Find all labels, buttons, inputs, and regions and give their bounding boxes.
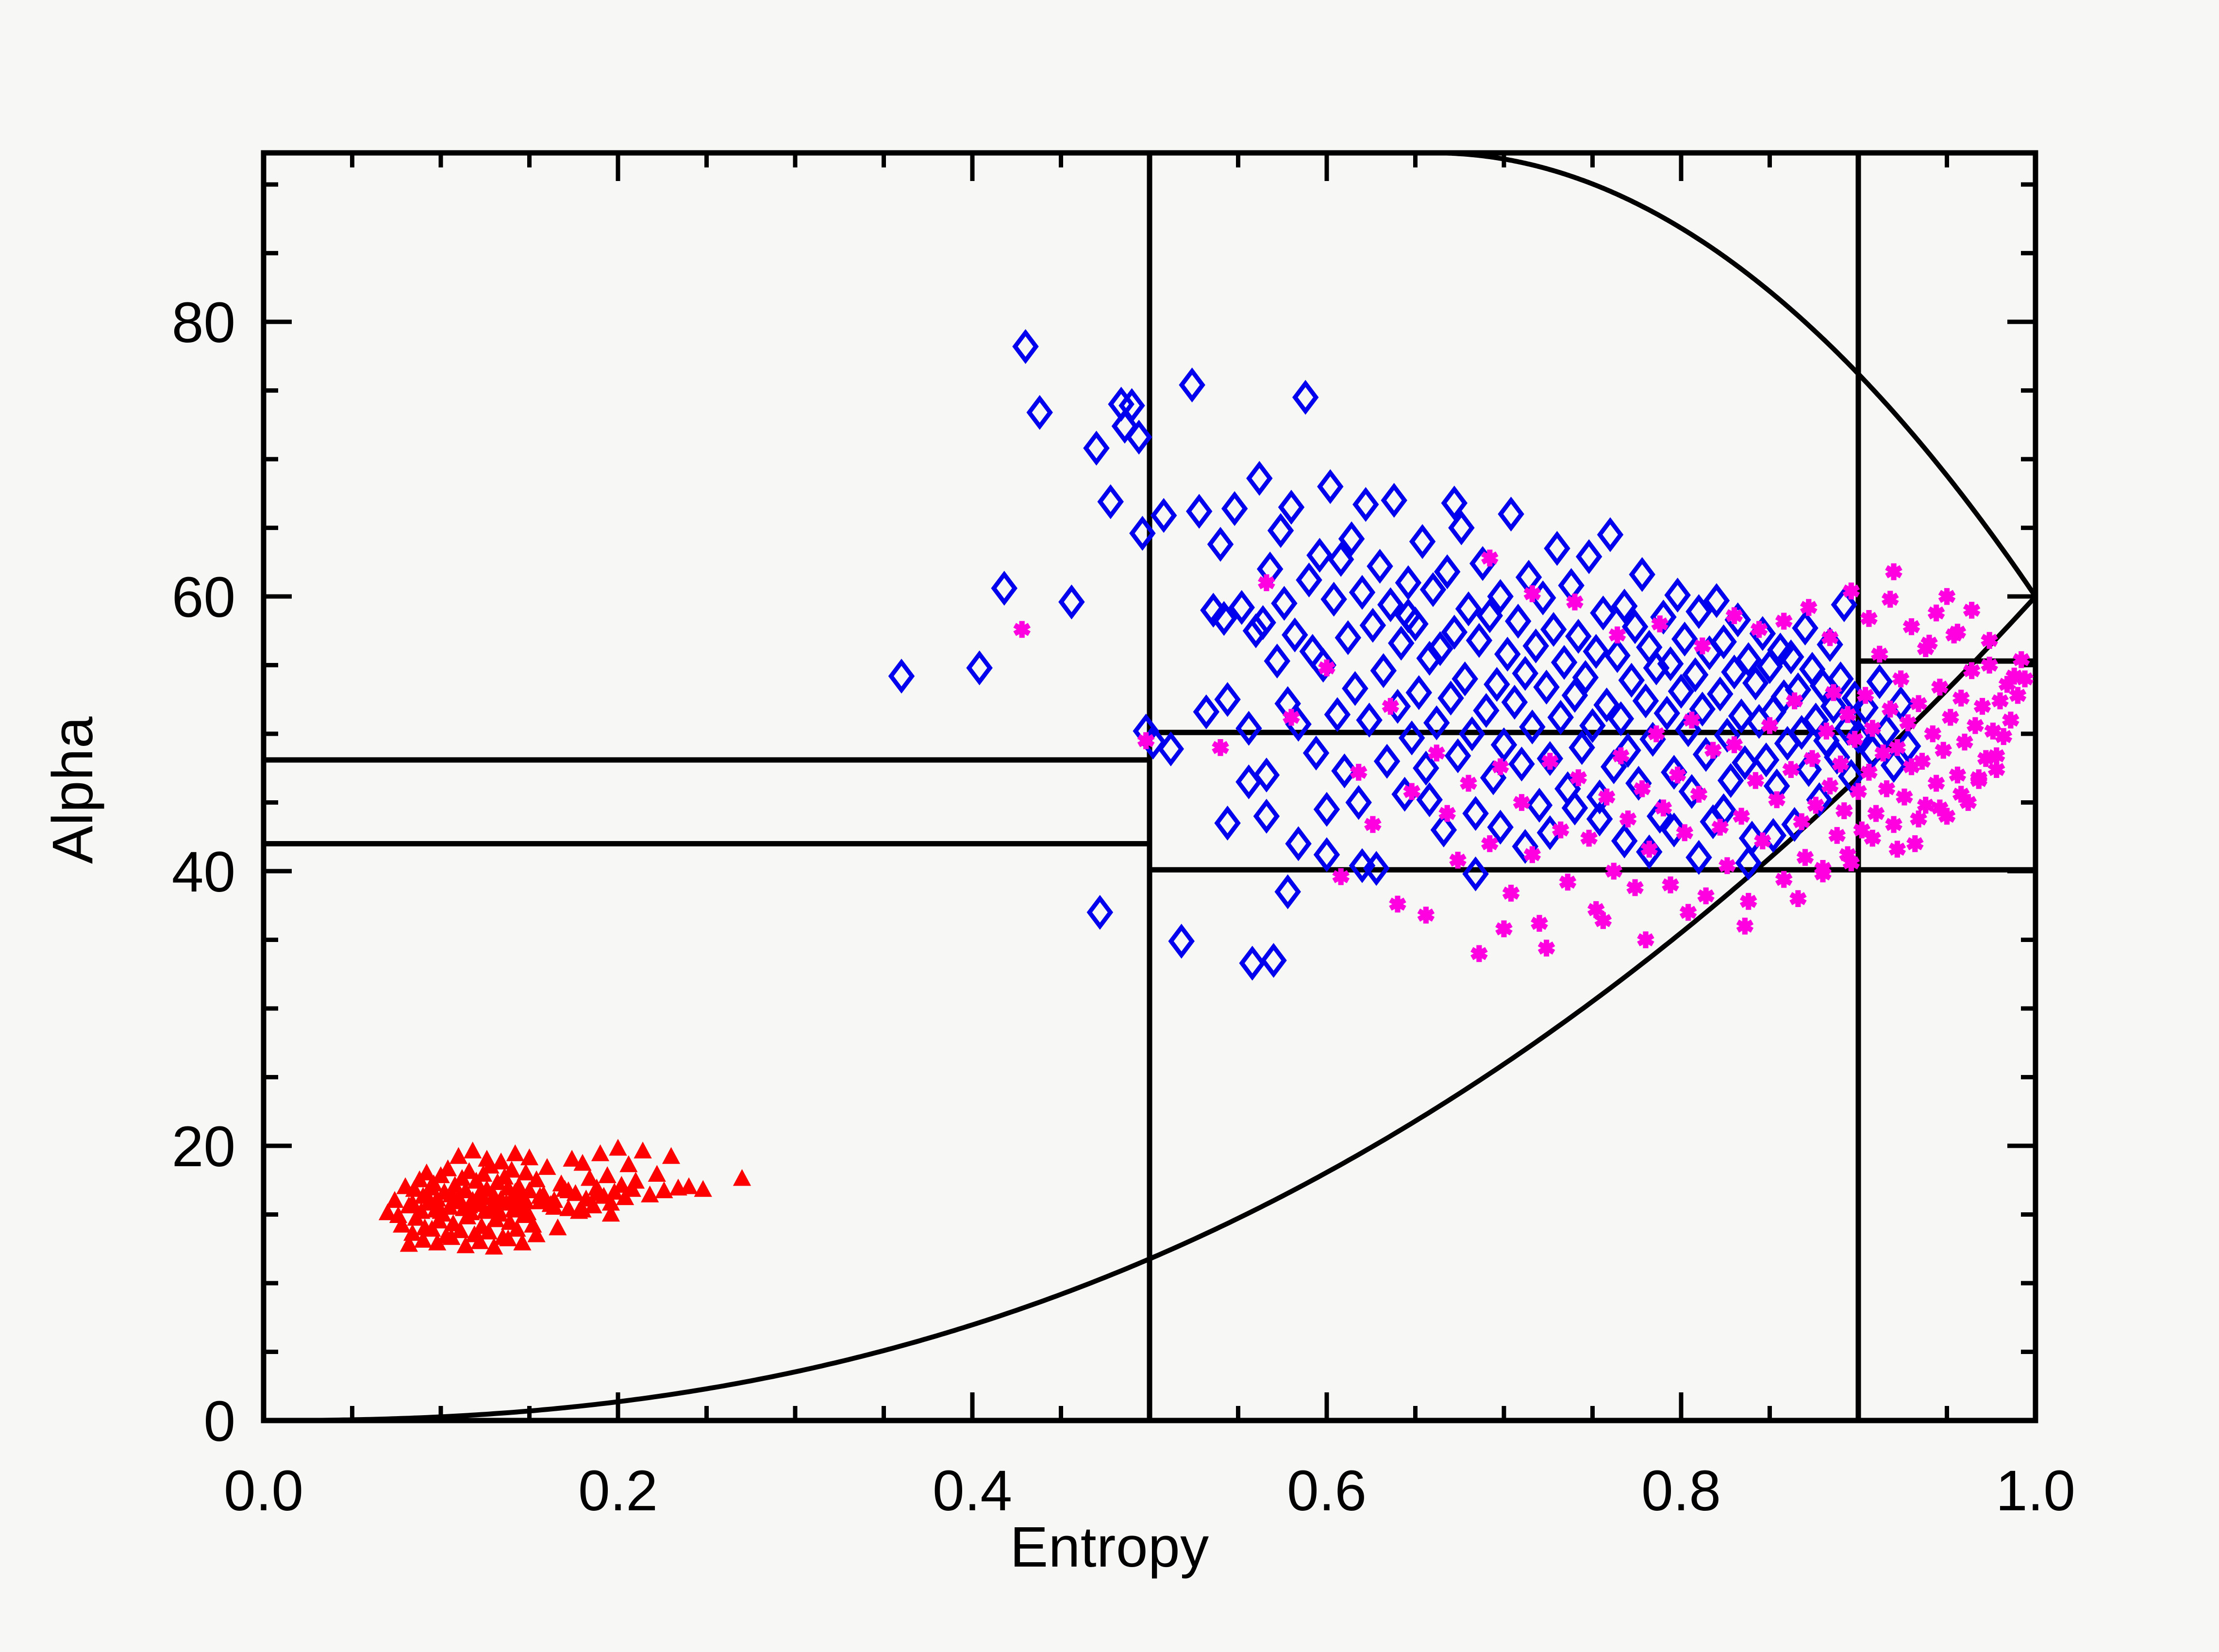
data-point-asterisk (1383, 698, 1398, 715)
data-point-diamond (1270, 517, 1291, 545)
data-point-asterisk (1015, 621, 1029, 638)
data-point-diamond (1267, 647, 1287, 675)
data-point-triangle (649, 1167, 665, 1181)
y-axis-title: Alpha (40, 159, 106, 1421)
data-point-diamond (1607, 642, 1628, 669)
data-point-asterisk (1965, 662, 1979, 679)
data-point-asterisk (1752, 621, 1767, 638)
data-point-asterisk (1582, 830, 1596, 847)
data-point-asterisk (1568, 594, 1582, 611)
data-point-diamond (1351, 578, 1372, 606)
data-point-asterisk (1571, 769, 1585, 786)
data-point-asterisk (1971, 772, 1986, 789)
data-point-asterisk (1720, 857, 1735, 874)
data-point-triangle (507, 1146, 523, 1160)
data-point-diamond (1242, 949, 1263, 977)
data-point-asterisk (1883, 701, 1898, 718)
data-point-diamond (1277, 878, 1298, 906)
data-point-asterisk (1834, 756, 1848, 773)
data-point-asterisk (1933, 800, 1947, 817)
data-point-diamond (1688, 843, 1709, 871)
data-point-triangle (521, 1150, 537, 1165)
data-point-asterisk (1472, 945, 1486, 962)
data-point-asterisk (1897, 789, 1912, 806)
data-point-asterisk (1808, 797, 1823, 814)
data-point-triangle (479, 1151, 495, 1166)
data-point-asterisk (1819, 723, 1834, 740)
data-point-asterisk (1957, 734, 1972, 751)
data-point-asterisk (1886, 816, 1901, 833)
data-point-diamond (1327, 701, 1348, 728)
data-point-asterisk (1844, 582, 1858, 599)
data-point-diamond (1316, 795, 1337, 823)
data-point-diamond (1508, 607, 1529, 635)
data-point-asterisk (1748, 772, 1763, 789)
data-point-diamond (1373, 657, 1394, 684)
data-point-asterisk (1851, 783, 1866, 800)
data-point-asterisk (1933, 679, 1947, 696)
data-point-diamond (1433, 816, 1454, 844)
y-axis-tick-labels: 020406080 (172, 291, 235, 1454)
data-point-asterisk (1993, 693, 2007, 710)
data-point-diamond (1600, 521, 1620, 548)
data-point-diamond (1299, 566, 1319, 594)
data-point-asterisk (1418, 907, 1433, 924)
y-tick-label: 20 (172, 1115, 235, 1179)
data-point-asterisk (1936, 742, 1951, 759)
data-point-diamond (1656, 699, 1677, 727)
data-point-triangle (493, 1154, 509, 1169)
data-point-asterisk (1925, 726, 1940, 743)
data-point-diamond (1256, 802, 1277, 830)
data-point-triangle (465, 1143, 481, 1157)
data-point-asterisk (1483, 550, 1497, 567)
data-point-asterisk (1798, 849, 1813, 866)
y-tick-label: 60 (172, 565, 235, 629)
data-point-diamond (1309, 542, 1330, 569)
data-point-asterisk (1539, 940, 1554, 957)
data-point-asterisk (1823, 629, 1837, 646)
data-point-diamond (1408, 679, 1429, 707)
data-point-diamond (1419, 786, 1440, 813)
data-point-asterisk (1787, 693, 1802, 710)
data-point-diamond (1635, 687, 1656, 715)
data-point-diamond (1561, 572, 1582, 599)
data-point-triangle (550, 1220, 566, 1235)
data-point-diamond (1274, 590, 1295, 617)
data-point-asterisk (1628, 879, 1642, 896)
data-point-asterisk (1968, 717, 1983, 734)
data-point-diamond (1568, 623, 1589, 650)
data-point-asterisk (1858, 687, 1873, 704)
data-point-asterisk (2018, 671, 2032, 688)
data-point-diamond (1238, 714, 1259, 742)
data-point-asterisk (1943, 709, 1958, 726)
data-point-diamond (1217, 809, 1238, 837)
data-point-asterisk (1837, 802, 1852, 819)
data-point-diamond (1224, 495, 1245, 522)
data-point-diamond (1468, 627, 1489, 654)
data-point-diamond (1323, 585, 1344, 613)
data-point-asterisk (1894, 671, 1908, 688)
entropy-alpha-scatter-figure: 0.00.20.40.60.81.0 020406080 Entropy Alp… (0, 0, 2219, 1652)
data-point-diamond (1210, 530, 1231, 558)
data-point-asterisk (2014, 651, 2029, 668)
data-point-asterisk (1823, 777, 1837, 794)
data-point-asterisk (1497, 921, 1511, 938)
data-point-asterisk (1681, 904, 1696, 921)
data-point-diamond (1674, 625, 1695, 653)
data-point-asterisk (1606, 863, 1621, 880)
data-point-asterisk (1600, 789, 1614, 806)
x-axis-tick-labels: 0.00.20.40.60.81.0 (224, 1459, 2075, 1523)
data-point-asterisk (1139, 732, 1153, 749)
plot-canvas: 0.00.20.40.60.81.0 020406080 (0, 0, 2219, 1652)
data-point-diamond (1511, 750, 1532, 778)
data-point-asterisk (1901, 714, 1915, 731)
data-point-asterisk (1213, 739, 1228, 756)
data-point-asterisk (1652, 615, 1667, 632)
data-point-diamond (1593, 599, 1614, 627)
data-point-diamond (1454, 665, 1475, 693)
data-point-asterisk (1515, 794, 1529, 811)
data-point-asterisk (1741, 893, 1756, 910)
data-point-diamond (1632, 561, 1652, 588)
data-point-diamond (891, 662, 912, 690)
data-point-diamond (1401, 724, 1422, 752)
data-point-asterisk (1596, 912, 1610, 929)
data-point-diamond (1710, 680, 1731, 708)
data-point-diamond (1412, 528, 1433, 555)
data-point-triangle (450, 1149, 466, 1163)
data-point-diamond (1501, 500, 1521, 528)
data-point-triangle (663, 1149, 679, 1163)
data-point-asterisk (1826, 684, 1841, 701)
data-point-diamond (1086, 434, 1107, 462)
series-class-b-blue-diamonds (891, 333, 1918, 977)
data-point-diamond (1196, 698, 1217, 726)
data-point-asterisk (1706, 742, 1720, 759)
data-point-asterisk (1755, 832, 1770, 849)
y-tick-label: 80 (172, 291, 235, 355)
data-point-diamond (1490, 813, 1511, 841)
data-point-triangle (642, 1187, 658, 1202)
data-point-asterisk (1862, 764, 1876, 781)
data-point-diamond (1398, 569, 1418, 596)
data-point-asterisk (1763, 717, 1777, 734)
data-point-asterisk (1996, 728, 2011, 745)
data-point-diamond (1621, 666, 1642, 694)
data-point-diamond (1249, 464, 1270, 492)
data-point-diamond (1281, 494, 1301, 521)
data-point-asterisk (1965, 602, 1979, 619)
data-point-asterisk (1919, 640, 1933, 657)
data-point-triangle (695, 1182, 711, 1196)
data-point-asterisk (1461, 775, 1476, 792)
data-point-diamond (1302, 638, 1323, 665)
data-point-diamond (994, 575, 1015, 602)
data-point-asterisk (1692, 786, 1706, 803)
data-point-asterisk (1865, 830, 1880, 847)
data-point-asterisk (1284, 709, 1299, 726)
data-point-diamond (969, 654, 990, 682)
data-point-diamond (1100, 488, 1121, 515)
data-point-asterisk (1954, 690, 1969, 707)
data-point-asterisk (1543, 753, 1557, 770)
data-point-asterisk (1560, 874, 1575, 891)
data-point-asterisk (1670, 767, 1685, 784)
data-point-asterisk (1699, 888, 1713, 905)
y-tick-label: 0 (203, 1389, 235, 1454)
x-tick-label: 0.8 (1641, 1459, 1721, 1523)
data-point-asterisk (1621, 810, 1635, 827)
data-point-asterisk (1911, 695, 1926, 712)
data-point-asterisk (1390, 896, 1405, 913)
data-point-asterisk (1727, 607, 1742, 624)
data-point-asterisk (1940, 588, 1954, 605)
data-point-diamond (1061, 588, 1082, 616)
boundary-upper-branch (1433, 153, 2035, 596)
data-point-asterisk (1532, 915, 1547, 932)
x-tick-label: 0.0 (224, 1459, 303, 1523)
data-point-asterisk (1334, 868, 1348, 885)
data-point-diamond (1320, 473, 1341, 500)
data-point-asterisk (1982, 657, 1997, 674)
data-point-asterisk (1784, 761, 1798, 778)
data-point-asterisk (1869, 805, 1884, 822)
data-point-asterisk (1904, 618, 1919, 635)
data-point-asterisk (1777, 613, 1791, 630)
data-point-diamond (1263, 946, 1284, 974)
data-point-diamond (1015, 333, 1036, 361)
data-point-diamond (1153, 502, 1174, 529)
data-point-diamond (1522, 713, 1543, 741)
data-point-diamond (1525, 632, 1546, 660)
data-point-asterisk (1794, 813, 1809, 830)
data-point-diamond (1504, 688, 1525, 716)
data-point-asterisk (1840, 846, 1855, 863)
data-point-triangle (387, 1192, 402, 1207)
x-tick-label: 0.6 (1287, 1459, 1367, 1523)
data-point-diamond (1295, 383, 1316, 411)
data-point-diamond (1486, 671, 1507, 698)
data-point-diamond (1458, 595, 1479, 623)
data-point-asterisk (1404, 783, 1419, 800)
data-point-triangle (610, 1140, 626, 1155)
data-point-diamond (1547, 535, 1568, 562)
data-point-diamond (1564, 794, 1585, 822)
data-point-asterisk (1883, 591, 1898, 608)
data-point-diamond (1579, 543, 1600, 570)
data-point-diamond (1355, 491, 1376, 518)
data-point-asterisk (1950, 767, 1965, 784)
data-point-triangle (419, 1165, 434, 1180)
data-point-asterisk (1982, 632, 1997, 649)
data-point-asterisk (1713, 819, 1727, 836)
data-point-asterisk (1734, 808, 1749, 825)
data-point-diamond (1795, 614, 1816, 642)
data-point-diamond (1377, 747, 1398, 775)
data-point-diamond (1285, 621, 1305, 649)
data-point-asterisk (1553, 822, 1568, 839)
data-point-asterisk (1638, 931, 1653, 948)
data-point-asterisk (1872, 646, 1887, 663)
data-point-diamond (1029, 398, 1050, 426)
x-axis-title: Entropy (0, 1514, 2219, 1580)
data-point-diamond (1493, 731, 1514, 759)
data-point-asterisk (1975, 698, 1990, 715)
data-point-triangle (515, 1235, 530, 1250)
data-point-diamond (1182, 371, 1202, 399)
data-point-asterisk (1525, 585, 1539, 602)
data-point-diamond (1348, 789, 1369, 816)
data-point-diamond (1189, 497, 1210, 525)
data-point-asterisk (1830, 827, 1844, 844)
data-point-asterisk (1950, 624, 1965, 641)
data-point-asterisk (1259, 574, 1274, 591)
data-point-diamond (1529, 792, 1550, 819)
data-point-asterisk (1886, 563, 1901, 580)
data-point-asterisk (1504, 885, 1518, 902)
data-point-asterisk (1635, 780, 1650, 797)
data-point-asterisk (1695, 638, 1710, 655)
data-point-diamond (1756, 746, 1777, 774)
data-point-triangle (518, 1165, 534, 1180)
data-point-asterisk (1483, 835, 1497, 852)
data-point-diamond (1362, 611, 1383, 639)
data-point-asterisk (1954, 786, 1969, 803)
data-point-diamond (1731, 702, 1752, 730)
data-point-asterisk (1911, 810, 1926, 827)
data-point-asterisk (1727, 736, 1742, 753)
x-tick-label: 0.4 (933, 1459, 1012, 1523)
data-point-diamond (1337, 624, 1358, 651)
data-point-asterisk (1890, 841, 1904, 858)
data-point-asterisk (1989, 747, 2004, 764)
data-point-diamond (1384, 486, 1404, 514)
data-point-asterisk (1876, 744, 1890, 761)
data-point-asterisk (1656, 800, 1671, 817)
data-point-asterisk (1879, 780, 1894, 797)
data-point-triangle (734, 1171, 750, 1185)
data-point-asterisk (1649, 726, 1664, 743)
data-point-asterisk (1737, 918, 1752, 935)
data-point-diamond (1515, 660, 1535, 687)
data-point-asterisk (1802, 599, 1816, 616)
data-point-diamond (1440, 684, 1461, 712)
data-point-asterisk (1525, 846, 1539, 863)
data-point-asterisk (1610, 627, 1625, 644)
data-point-diamond (1316, 841, 1337, 869)
x-tick-label: 0.2 (578, 1459, 658, 1523)
data-point-asterisk (1929, 775, 1944, 792)
data-point-diamond (1369, 552, 1390, 580)
data-point-diamond (1497, 640, 1518, 668)
data-point-asterisk (1862, 610, 1876, 627)
data-point-diamond (1614, 827, 1635, 855)
data-point-asterisk (1685, 711, 1699, 728)
data-point-asterisk (1777, 871, 1791, 888)
data-point-diamond (1543, 615, 1564, 643)
data-point-diamond (1536, 673, 1557, 701)
data-point-asterisk (2011, 687, 2025, 704)
data-point-diamond (1288, 830, 1309, 858)
data-point-triangle (635, 1143, 651, 1157)
data-point-asterisk (1908, 835, 1922, 852)
data-point-asterisk (1805, 750, 1819, 767)
data-point-triangle (600, 1168, 615, 1182)
data-point-asterisk (1816, 865, 1830, 882)
data-point-asterisk (1351, 764, 1366, 781)
data-point-asterisk (1663, 876, 1678, 893)
data-point-triangle (539, 1159, 555, 1174)
data-point-diamond (1667, 581, 1688, 609)
data-point-diamond (1518, 563, 1539, 591)
data-point-asterisk (1614, 747, 1628, 764)
data-point-diamond (1465, 860, 1486, 888)
x-tick-label: 1.0 (1996, 1459, 2075, 1523)
data-point-diamond (1448, 742, 1468, 770)
data-point-asterisk (1677, 824, 1692, 841)
data-point-diamond (1089, 898, 1110, 926)
data-point-triangle (681, 1179, 697, 1193)
data-point-diamond (1416, 754, 1436, 782)
data-point-asterisk (1366, 816, 1380, 833)
series-class-a-red-triangles (380, 1140, 750, 1254)
data-point-diamond (1465, 800, 1486, 827)
data-point-asterisk (1451, 852, 1465, 869)
data-point-asterisk (1840, 706, 1855, 723)
data-point-diamond (1550, 704, 1571, 731)
data-point-asterisk (1929, 605, 1944, 622)
data-point-asterisk (1915, 753, 1929, 770)
data-point-asterisk (1493, 759, 1508, 776)
data-point-asterisk (1440, 805, 1454, 822)
data-point-diamond (1306, 739, 1327, 767)
data-point-diamond (1585, 638, 1606, 665)
data-point-diamond (1171, 927, 1192, 955)
data-point-diamond (1554, 648, 1575, 676)
data-point-diamond (1345, 675, 1366, 702)
data-point-asterisk (1429, 744, 1444, 761)
data-point-diamond (1391, 629, 1412, 657)
data-point-asterisk (1848, 731, 1862, 748)
data-point-diamond (1359, 706, 1380, 734)
data-point-triangle (628, 1173, 643, 1188)
data-point-asterisk (1769, 792, 1784, 809)
data-point-asterisk (1865, 720, 1880, 737)
data-point-asterisk (1319, 660, 1334, 677)
data-point-asterisk (1890, 739, 1904, 756)
data-point-triangle (621, 1157, 636, 1172)
data-point-triangle (592, 1146, 608, 1160)
data-point-asterisk (1642, 841, 1656, 858)
data-point-asterisk (1791, 890, 1805, 907)
data-point-asterisk (2003, 711, 2018, 728)
y-tick-label: 40 (172, 840, 235, 904)
data-point-diamond (1217, 686, 1238, 713)
data-point-diamond (1476, 696, 1497, 724)
